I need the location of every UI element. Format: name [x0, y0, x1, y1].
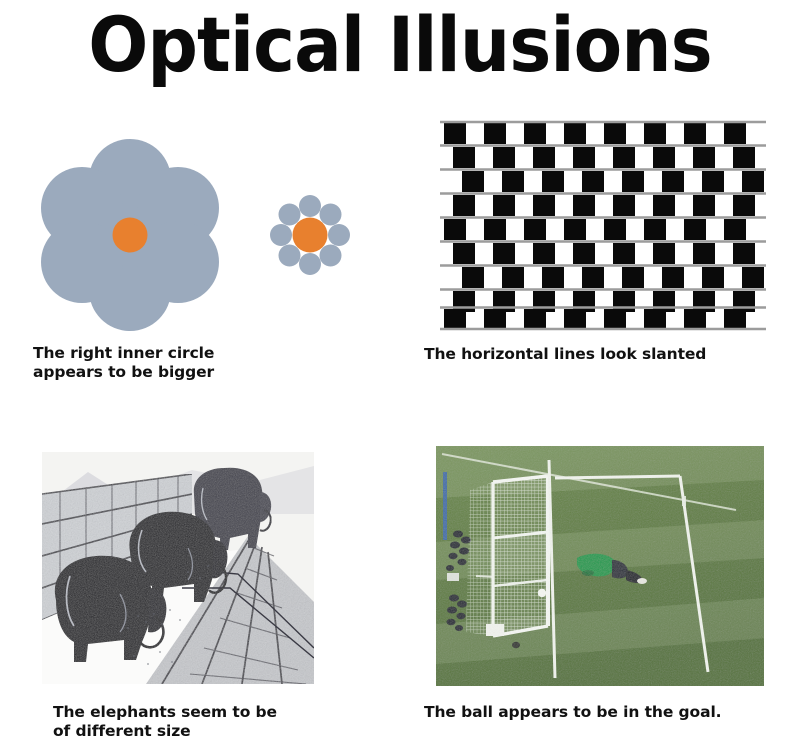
caption-soccer: The ball appears to be in the goal.: [424, 703, 721, 722]
outer-circle-right-8: [279, 204, 301, 226]
cafe-wall-illusion-figure: [440, 120, 766, 332]
inner-circle-left: [113, 218, 148, 253]
page-title: Optical Illusions: [28, 2, 772, 88]
outer-circle-left-6: [137, 221, 219, 303]
goal-net: [466, 476, 548, 636]
side-marking: [476, 576, 494, 577]
ebbinghaus-illusion-figure: [0, 112, 400, 362]
box-line-top: [555, 476, 680, 478]
tile-row: [440, 123, 766, 144]
net-anchor: [486, 624, 504, 636]
ebbinghaus-left-cluster: [41, 139, 219, 331]
outer-circle-right-1: [299, 195, 321, 217]
ebbinghaus-right-cluster: [270, 195, 350, 275]
box-mark: [682, 496, 686, 506]
elephants-photo-svg: [42, 452, 314, 684]
ebbinghaus-svg: [0, 112, 400, 362]
inner-circle-right: [293, 218, 328, 253]
ground-object: [512, 642, 520, 648]
keeper-boots: [637, 578, 647, 584]
soccer-goal-figure: [436, 446, 764, 686]
soccer-photo-svg: [436, 446, 764, 686]
outer-circle-right-4: [320, 245, 342, 267]
keeper-arm: [582, 570, 594, 576]
outer-circle-right-6: [279, 245, 301, 267]
cafe-wall-svg: [440, 120, 766, 332]
corner-post: [443, 472, 447, 540]
outer-circle-right-2: [320, 204, 342, 226]
ponzo-elephants-figure: [42, 452, 314, 684]
outer-circle-right-3: [328, 224, 350, 246]
outer-circle-right-7: [270, 224, 292, 246]
caption-cafewall: The horizontal lines look slanted: [424, 345, 706, 364]
ball: [538, 589, 546, 597]
outer-circle-right-5: [299, 253, 321, 275]
caption-elephants: The elephants seem to be of different si…: [53, 703, 277, 741]
equipment-box: [447, 573, 459, 581]
outer-circle-left-5: [41, 221, 123, 303]
caption-ebbinghaus: The right inner circle appears to be big…: [33, 344, 214, 382]
